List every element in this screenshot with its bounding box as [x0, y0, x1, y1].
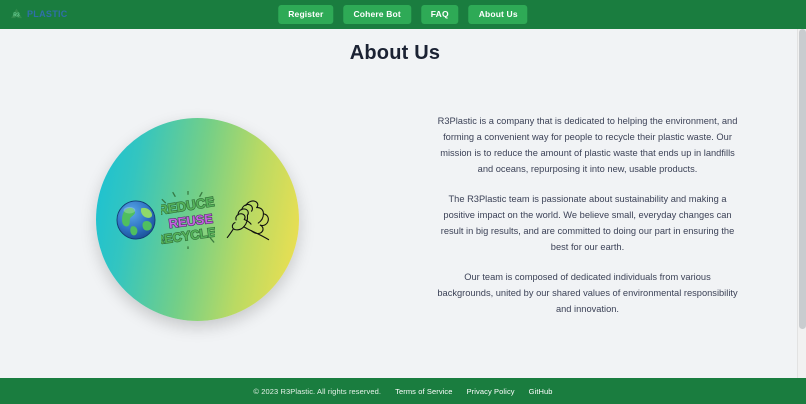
brand-name-label: PLASTIC	[27, 10, 68, 19]
illustration-column: REDUCE REUSE RECYCLE	[0, 100, 395, 321]
footer-link-terms-of-service[interactable]: Terms of Service	[395, 387, 452, 396]
about-illustration-circle: REDUCE REUSE RECYCLE	[96, 118, 299, 321]
about-paragraph-1: R3Plastic is a company that is dedicated…	[437, 114, 738, 178]
about-paragraph-2: The R3Plastic team is passionate about s…	[437, 192, 738, 256]
site-footer: © 2023 R3Plastic. All rights reserved. T…	[0, 378, 806, 404]
nav-cohere-bot-button[interactable]: Cohere Bot	[343, 5, 410, 25]
about-paragraph-3: Our team is composed of dedicated indivi…	[437, 270, 738, 318]
about-text-column: R3Plastic is a company that is dedicated…	[395, 100, 790, 318]
page-scrollbar-thumb[interactable]	[799, 29, 806, 329]
main-navigation: Register Cohere Bot FAQ About Us	[278, 5, 527, 25]
footer-copyright: © 2023 R3Plastic. All rights reserved.	[253, 387, 381, 396]
recycle-logo-icon: R3	[9, 7, 24, 22]
nav-faq-button[interactable]: FAQ	[421, 5, 459, 25]
reduce-reuse-recycle-slogan-art: REDUCE REUSE RECYCLE	[161, 191, 215, 249]
page-title: About Us	[0, 42, 790, 65]
globe-earth-americas-icon	[115, 199, 157, 241]
svg-text:R3: R3	[13, 13, 20, 19]
footer-link-privacy-policy[interactable]: Privacy Policy	[467, 387, 515, 396]
fist-bump-icon	[219, 194, 281, 246]
about-content: REDUCE REUSE RECYCLE	[0, 100, 790, 321]
nav-register-button[interactable]: Register	[278, 5, 333, 25]
nav-about-us-button[interactable]: About Us	[469, 5, 528, 25]
brand-logo[interactable]: R3 PLASTIC	[9, 0, 68, 29]
site-header: R3 PLASTIC Register Cohere Bot FAQ About…	[0, 0, 806, 29]
page-scrollbar[interactable]	[797, 29, 806, 378]
page-root: R3 PLASTIC Register Cohere Bot FAQ About…	[0, 0, 806, 404]
footer-link-github[interactable]: GitHub	[529, 387, 553, 396]
